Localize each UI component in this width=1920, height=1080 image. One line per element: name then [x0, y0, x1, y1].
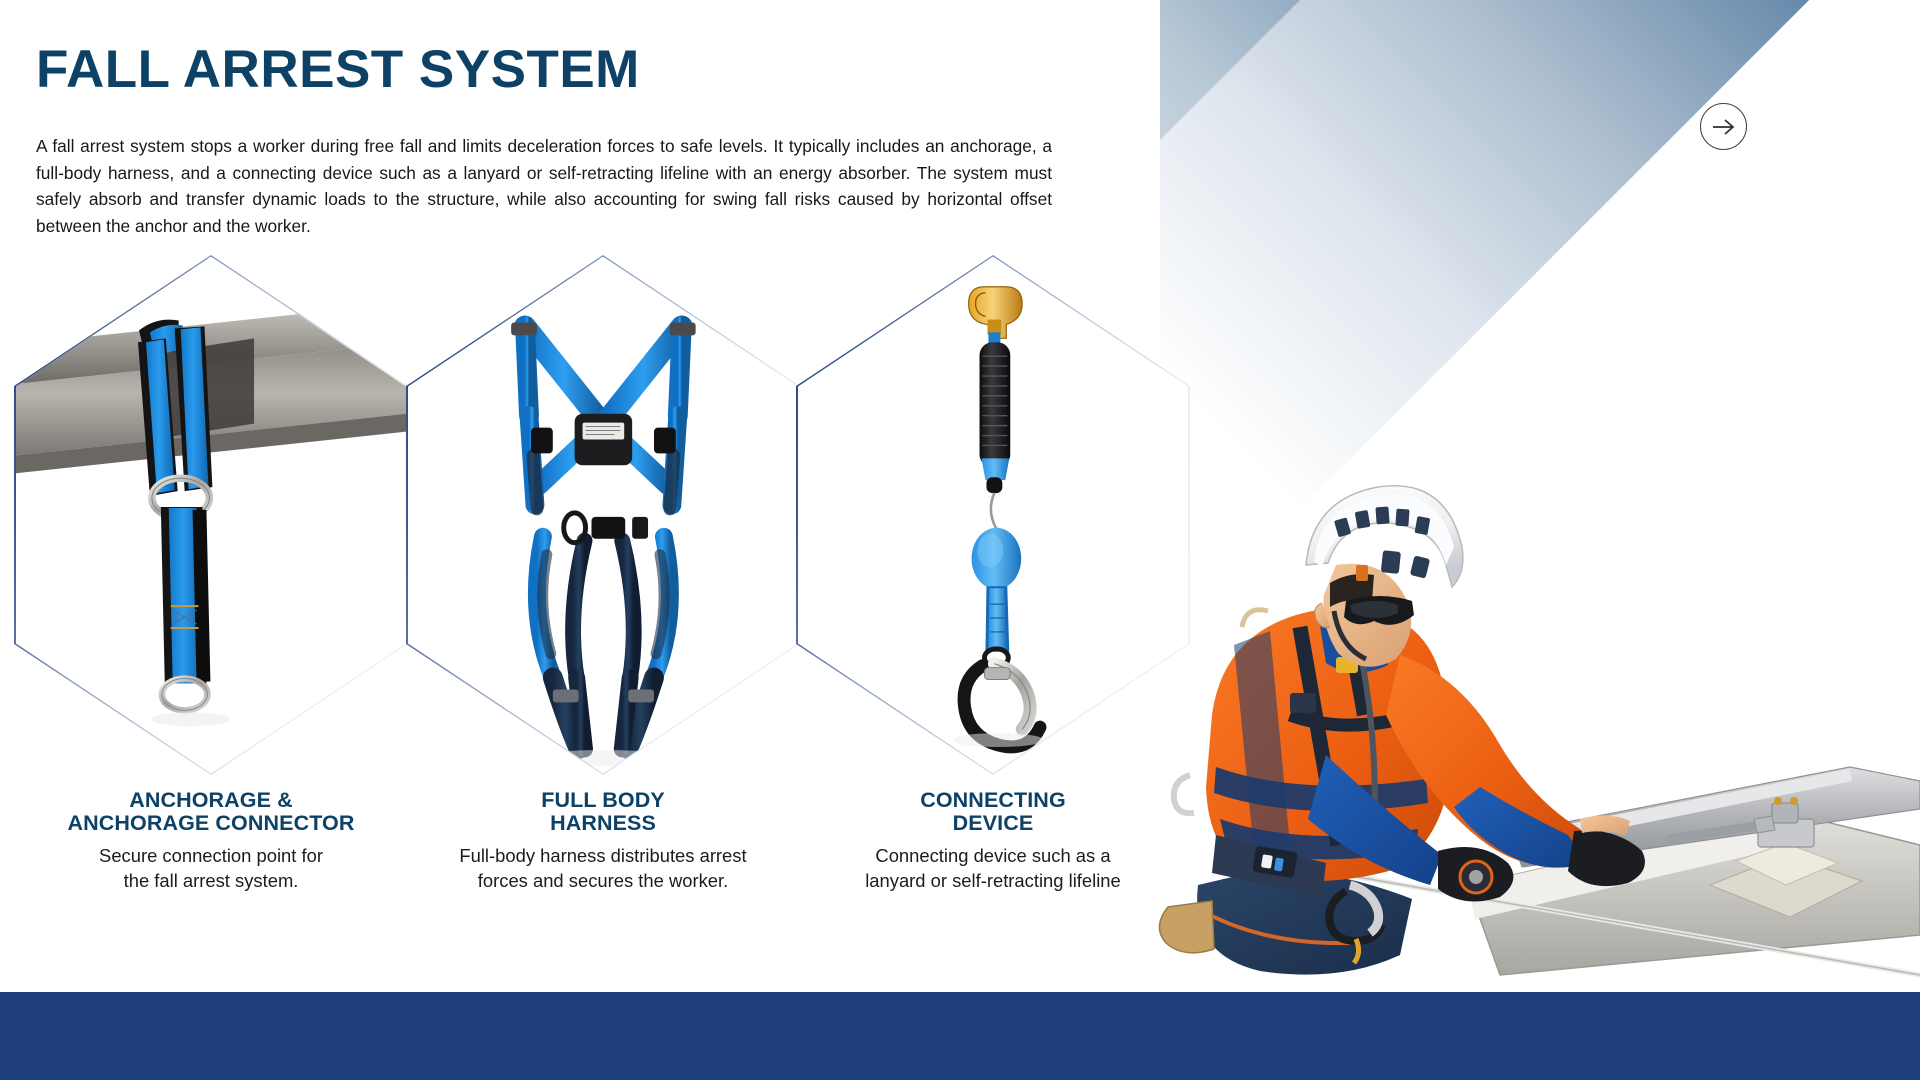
card-title-line-1: ANCHORAGE &	[14, 789, 408, 812]
card-title-line-2: DEVICE	[796, 812, 1190, 835]
card-title-connecting-device: CONNECTING DEVICE	[796, 789, 1190, 835]
bottom-bar	[0, 992, 1920, 1080]
card-desc-line-1: Connecting device such as a	[796, 844, 1190, 868]
next-arrow-button[interactable]	[1700, 103, 1747, 150]
hexagon-frame-anchorage	[14, 255, 408, 775]
card-desc-harness: Full-body harness distributes arrest for…	[406, 844, 800, 893]
card-title-line-1: FULL BODY	[406, 789, 800, 812]
card-connecting-device[interactable]: CONNECTING DEVICE Connecting device such…	[796, 255, 1190, 893]
card-desc-line-1: Secure connection point for	[14, 844, 408, 868]
slide-root: FALL ARREST SYSTEM A fall arrest system …	[0, 0, 1920, 1080]
card-desc-anchorage: Secure connection point for the fall arr…	[14, 844, 408, 893]
hexagon-image-clip	[16, 257, 407, 774]
card-desc-line-2: forces and secures the worker.	[406, 869, 800, 893]
hexagon-image-clip	[798, 257, 1189, 774]
card-title-line-2: HARNESS	[406, 812, 800, 835]
arrow-right-icon	[1711, 117, 1737, 137]
card-desc-connecting-device: Connecting device such as a lanyard or s…	[796, 844, 1190, 893]
hexagon-frame-harness	[406, 255, 800, 775]
card-desc-line-2: the fall arrest system.	[14, 869, 408, 893]
card-desc-line-2: lanyard or self-retracting lifeline	[796, 869, 1190, 893]
card-title-line-2: ANCHORAGE CONNECTOR	[14, 812, 408, 835]
card-title-anchorage: ANCHORAGE & ANCHORAGE CONNECTOR	[14, 789, 408, 835]
anchorage-strap-on-i-beam-photo	[16, 257, 407, 773]
worker-installing-anchor-point-illustration	[1150, 415, 1920, 1005]
hexagon-image-clip	[408, 257, 799, 774]
hexagon-frame-connecting-device	[796, 255, 1190, 775]
full-body-harness-photo	[408, 257, 799, 773]
energy-absorbing-lanyard-photo	[798, 257, 1189, 773]
card-row: ANCHORAGE & ANCHORAGE CONNECTOR Secure c…	[0, 255, 1250, 955]
card-title-line-1: CONNECTING	[796, 789, 1190, 812]
card-full-body-harness[interactable]: FULL BODY HARNESS Full-body harness dist…	[406, 255, 800, 893]
card-desc-line-1: Full-body harness distributes arrest	[406, 844, 800, 868]
card-anchorage[interactable]: ANCHORAGE & ANCHORAGE CONNECTOR Secure c…	[14, 255, 408, 893]
page-title: FALL ARREST SYSTEM	[36, 42, 640, 98]
intro-paragraph: A fall arrest system stops a worker duri…	[36, 133, 1052, 240]
card-title-harness: FULL BODY HARNESS	[406, 789, 800, 835]
